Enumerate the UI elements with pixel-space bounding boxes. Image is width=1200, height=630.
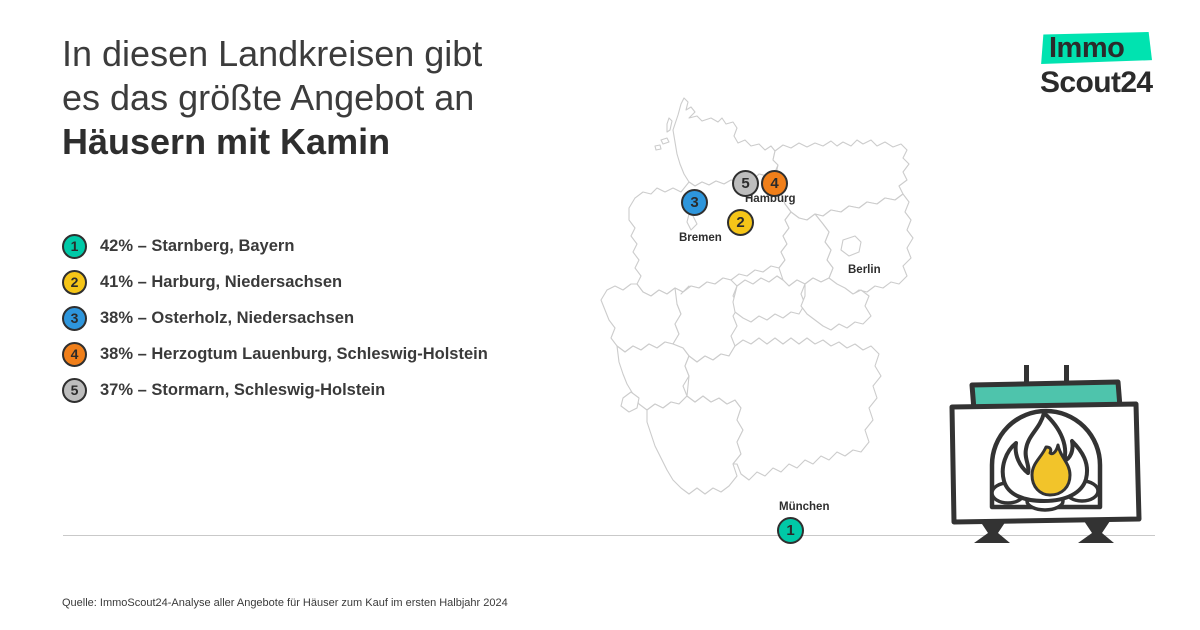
list-item: 4 38% – Herzogtum Lauenburg, Schleswig-H… xyxy=(62,336,602,372)
legend-label-5: 37% – Stormarn, Schleswig-Holstein xyxy=(100,381,385,400)
map-marker-4[interactable]: 4 xyxy=(761,170,788,197)
island-fohr xyxy=(661,138,669,144)
logo-scout24-text: Scout24 xyxy=(1040,66,1153,100)
page-title: In diesen Landkreisen gibt es das größte… xyxy=(62,32,582,164)
island-sylt xyxy=(667,118,672,132)
state-schleswig-holstein xyxy=(673,98,778,186)
immoscout24-logo: Immo Scout24 xyxy=(1040,30,1170,102)
rank-badge-2: 2 xyxy=(62,270,87,295)
source-note: Quelle: ImmoScout24-Analyse aller Angebo… xyxy=(62,597,508,609)
germany-map xyxy=(585,88,930,578)
headline-line-2: es das größte Angebot an xyxy=(62,76,582,120)
state-baden-wuerttemberg xyxy=(647,396,743,494)
city-label-muenchen: München xyxy=(779,501,829,513)
city-label-bremen: Bremen xyxy=(679,232,722,244)
stove-leg-left xyxy=(974,521,1010,543)
rank-badge-1: 1 xyxy=(62,234,87,259)
city-label-berlin: Berlin xyxy=(848,264,881,276)
rank-badge-4: 4 xyxy=(62,342,87,367)
stove-leg-right xyxy=(1078,521,1114,543)
map-marker-5[interactable]: 5 xyxy=(732,170,759,197)
logo-immo-text: Immo xyxy=(1049,31,1124,65)
ranking-legend: 1 42% – Starnberg, Bayern 2 41% – Harbur… xyxy=(62,228,602,408)
rank-badge-3: 3 xyxy=(62,306,87,331)
list-item: 3 38% – Osterholz, Niedersachsen xyxy=(62,300,602,336)
map-marker-2[interactable]: 2 xyxy=(727,209,754,236)
island-amrum xyxy=(655,145,661,150)
state-thueringen xyxy=(733,276,805,322)
list-item: 2 41% – Harburg, Niedersachsen xyxy=(62,264,602,300)
legend-label-1: 42% – Starnberg, Bayern xyxy=(100,237,294,256)
headline-line-1: In diesen Landkreisen gibt xyxy=(62,32,582,76)
legend-label-4: 38% – Herzogtum Lauenburg, Schleswig-Hol… xyxy=(100,345,488,364)
map-marker-1[interactable]: 1 xyxy=(777,517,804,544)
state-nordrhein-westfalen xyxy=(601,284,681,352)
rank-badge-5: 5 xyxy=(62,378,87,403)
logo-immo-block: Immo xyxy=(1040,30,1160,66)
legend-label-3: 38% – Osterholz, Niedersachsen xyxy=(100,309,354,328)
map-marker-3[interactable]: 3 xyxy=(681,189,708,216)
headline-line-3: Häusern mit Kamin xyxy=(62,120,582,164)
legend-label-2: 41% – Harburg, Niedersachsen xyxy=(100,273,342,292)
list-item: 1 42% – Starnberg, Bayern xyxy=(62,228,602,264)
list-item: 5 37% – Stormarn, Schleswig-Holstein xyxy=(62,372,602,408)
fireplace-stove-illustration xyxy=(940,355,1180,545)
